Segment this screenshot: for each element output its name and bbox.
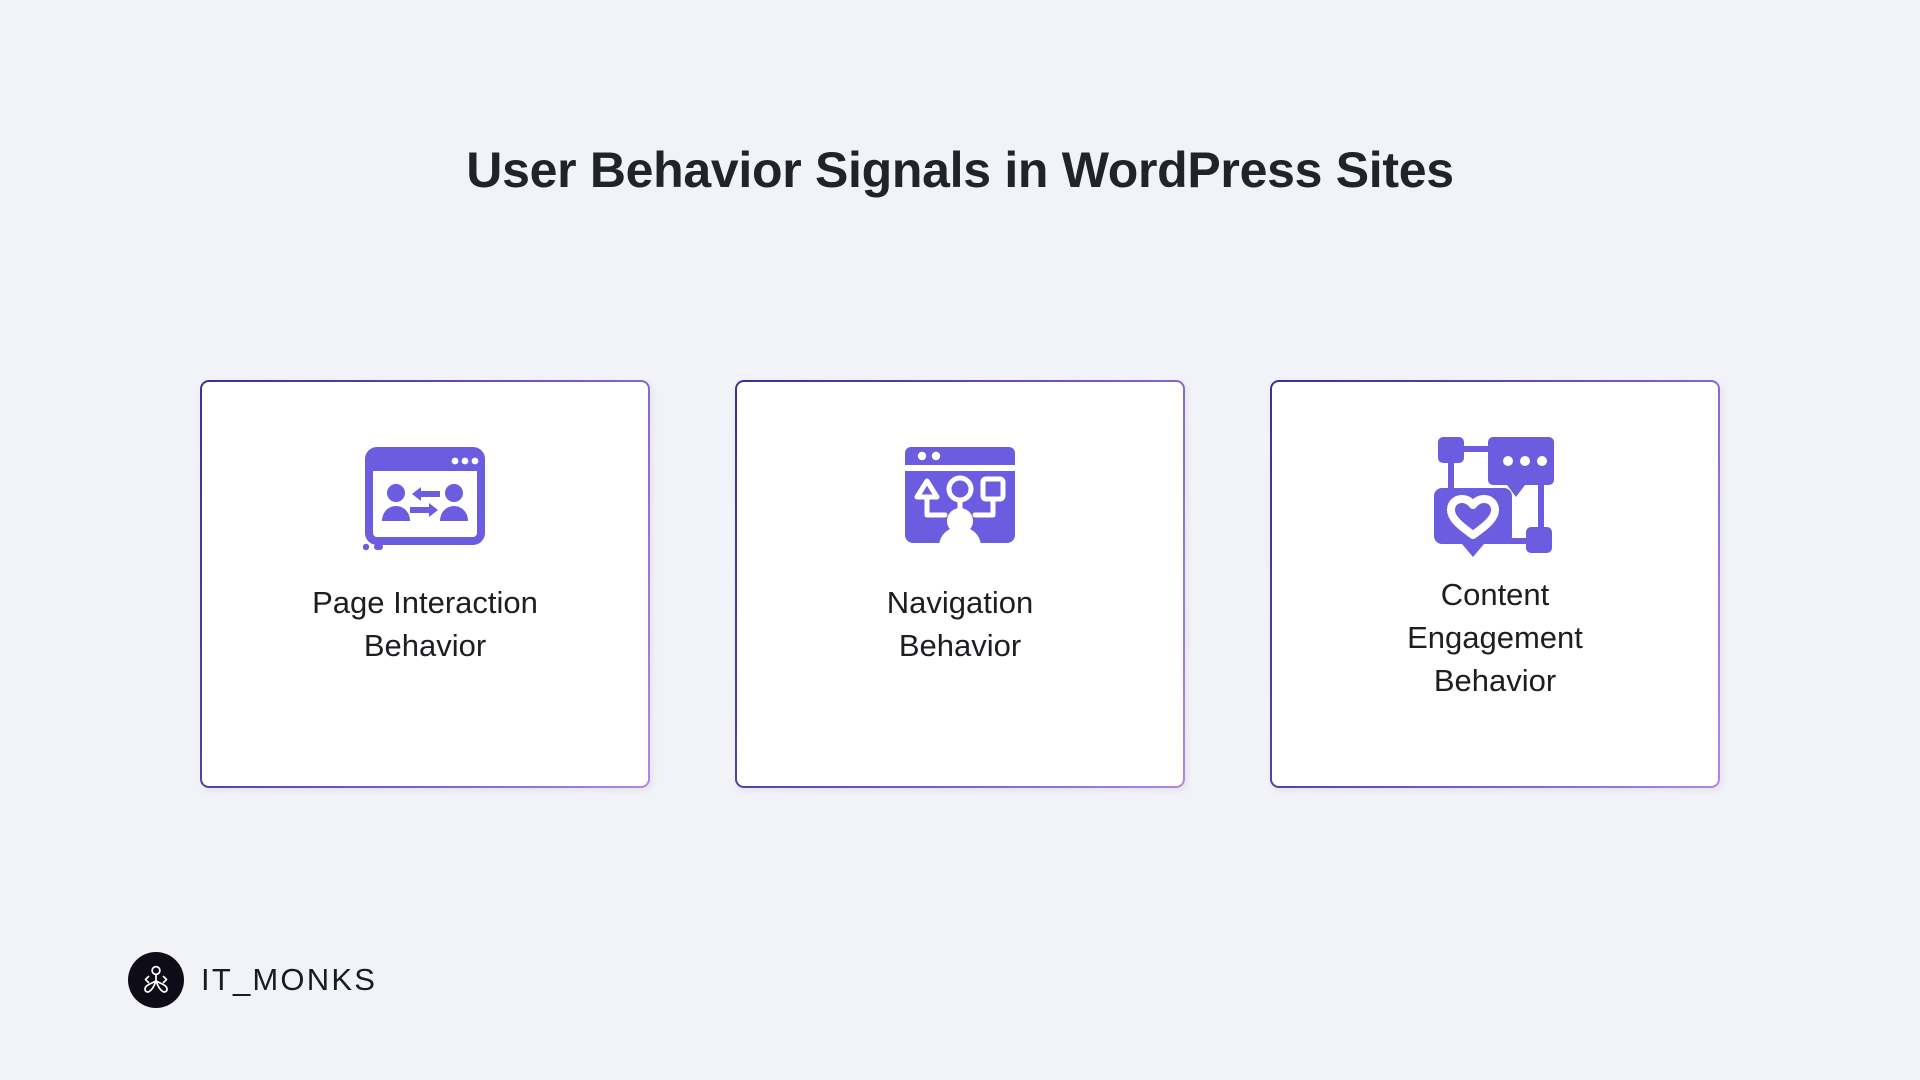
card-inner: Page Interaction Behavior — [202, 382, 648, 786]
card-inner: Navigation Behavior — [737, 382, 1183, 786]
heart-chat-engagement-icon — [1433, 430, 1557, 560]
card-navigation[interactable]: Navigation Behavior — [735, 380, 1185, 788]
infographic-canvas: User Behavior Signals in WordPress Sites — [0, 0, 1920, 1080]
card-label-line2: Behavior — [770, 625, 1150, 668]
monk-loop-icon — [128, 952, 184, 1008]
card-label: Page Interaction Behavior — [235, 582, 615, 668]
card-label-line1: Content — [1305, 574, 1685, 617]
page-title: User Behavior Signals in WordPress Sites — [0, 141, 1920, 199]
card-page-interaction[interactable]: Page Interaction Behavior — [200, 380, 650, 788]
card-content-engagement[interactable]: Content Engagement Behavior — [1270, 380, 1720, 788]
browser-navigation-paths-icon — [905, 430, 1015, 560]
card-label-line2: Engagement — [1305, 617, 1685, 660]
card-label-line1: Navigation — [770, 582, 1150, 625]
card-label: Content Engagement Behavior — [1305, 574, 1685, 702]
card-label-line3: Behavior — [1305, 660, 1685, 703]
card-label-line1: Page Interaction — [235, 582, 615, 625]
card-label-line2: Behavior — [235, 625, 615, 668]
browser-user-exchange-icon — [363, 430, 487, 560]
logo-text: IT_MONKS — [201, 962, 377, 998]
cards-row: Page Interaction Behavior — [200, 380, 1720, 788]
card-inner: Content Engagement Behavior — [1272, 382, 1718, 786]
brand-logo: IT_MONKS — [128, 952, 377, 1008]
card-label: Navigation Behavior — [770, 582, 1150, 668]
